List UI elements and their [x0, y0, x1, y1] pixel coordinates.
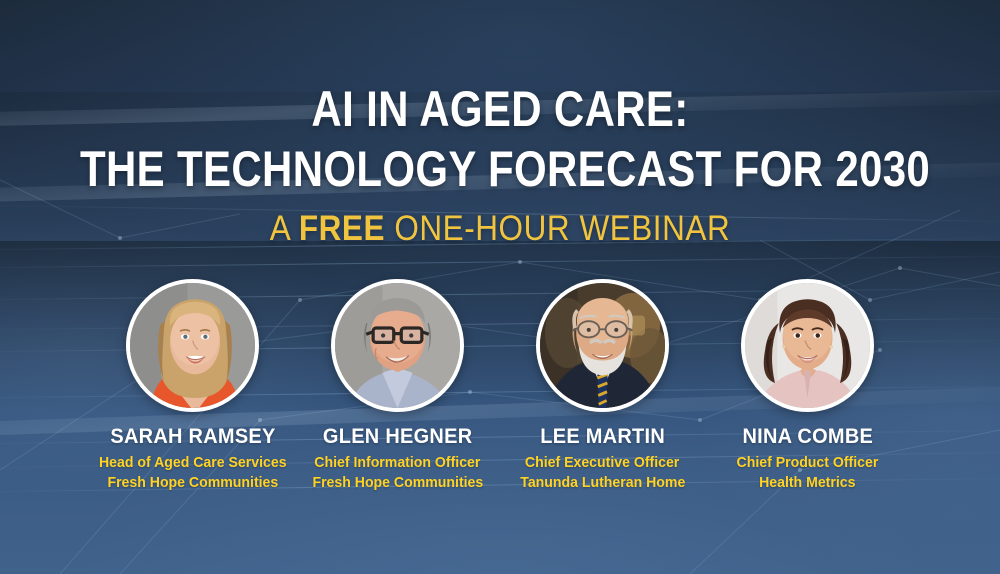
speakers-row: SARAH RAMSEY Head of Aged Care Services …: [0, 279, 1000, 494]
webinar-promo-banner: AI IN AGED CARE: THE TECHNOLOGY FORECAST…: [0, 0, 1000, 574]
subtitle-emphasis-free: FREE: [299, 209, 385, 248]
speaker-role: Chief Executive Officer: [525, 453, 679, 473]
speaker-org: Tanunda Lutheran Home: [520, 473, 685, 493]
speaker-org: Health Metrics: [759, 473, 855, 493]
portrait-nina-combe: [741, 279, 874, 412]
speaker-org: Fresh Hope Communities: [107, 473, 278, 493]
portrait-sarah-ramsey: [126, 279, 259, 412]
speaker-role: Head of Aged Care Services: [99, 453, 287, 473]
speaker-card-sarah-ramsey: SARAH RAMSEY Head of Aged Care Services …: [90, 279, 295, 494]
portrait-glen-hegner: [331, 279, 464, 412]
speaker-card-nina-combe: NINA COMBE Chief Product Officer Health …: [705, 279, 910, 494]
subtitle: A FREE ONE-HOUR WEBINAR: [50, 211, 950, 246]
subtitle-suffix: ONE-HOUR WEBINAR: [385, 209, 730, 248]
title-line-2: THE TECHNOLOGY FORECAST FOR 2030: [80, 144, 920, 194]
headline-block: AI IN AGED CARE: THE TECHNOLOGY FORECAST…: [0, 84, 1000, 246]
speaker-card-glen-hegner: GLEN HEGNER Chief Information Officer Fr…: [295, 279, 500, 494]
subtitle-prefix: A: [270, 209, 299, 248]
speaker-name: LEE MARTIN: [540, 426, 665, 448]
speaker-org: Fresh Hope Communities: [312, 473, 483, 493]
speaker-role: Chief Information Officer: [314, 453, 480, 473]
speaker-card-lee-martin: LEE MARTIN Chief Executive Officer Tanun…: [500, 279, 705, 494]
portrait-lee-martin: [536, 279, 669, 412]
title-line-1: AI IN AGED CARE:: [80, 84, 920, 134]
speaker-name: GLEN HEGNER: [323, 426, 472, 448]
speaker-name: SARAH RAMSEY: [110, 426, 275, 448]
speaker-role: Chief Product Officer: [737, 453, 879, 473]
speaker-name: NINA COMBE: [742, 426, 873, 448]
